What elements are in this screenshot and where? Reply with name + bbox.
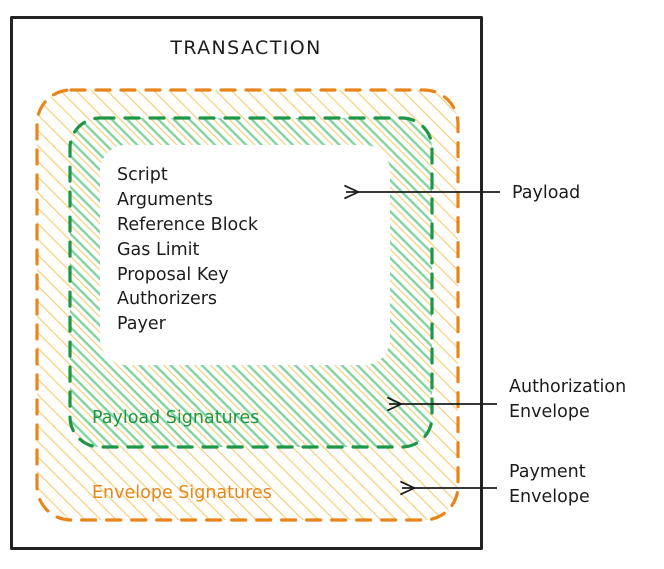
callout-authorization-envelope-label-line1: Authorization <box>509 377 626 397</box>
page-title: TRANSACTION <box>169 37 321 59</box>
callout-payload-label: Payload <box>512 183 580 203</box>
list-item: Arguments <box>117 190 213 210</box>
list-item: Payer <box>117 314 167 334</box>
callout-payment-envelope-label-line1: Payment <box>509 462 586 482</box>
list-item: Authorizers <box>117 289 217 309</box>
envelope-signatures-label: Envelope Signatures <box>92 483 272 503</box>
transaction-envelope-diagram: TRANSACTION Script Arguments Reference B… <box>0 0 664 569</box>
list-item: Script <box>117 165 168 185</box>
list-item: Proposal Key <box>117 265 229 285</box>
diagram-canvas: TRANSACTION Script Arguments Reference B… <box>0 0 664 569</box>
callout-payment-envelope-label-line2: Envelope <box>509 487 590 507</box>
list-item: Gas Limit <box>117 240 199 260</box>
payload-signatures-label: Payload Signatures <box>92 408 259 428</box>
callout-authorization-envelope-label-line2: Envelope <box>509 402 590 422</box>
list-item: Reference Block <box>117 215 259 235</box>
